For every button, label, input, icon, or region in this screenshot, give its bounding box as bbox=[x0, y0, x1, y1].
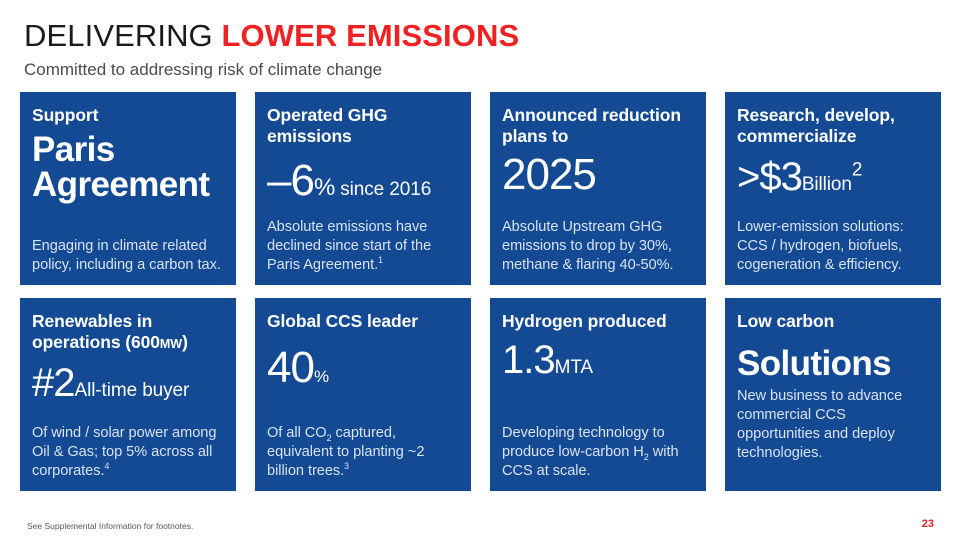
card-value-row: >$3Billion2 bbox=[737, 157, 928, 197]
card-value-suffix: since 2016 bbox=[335, 179, 431, 200]
card-eyebrow: Low carbon bbox=[737, 311, 928, 332]
slide: DELIVERING LOWER EMISSIONS Committed to … bbox=[0, 0, 960, 540]
card-value: 1.3 bbox=[502, 338, 555, 382]
card-body: Of wind / solar power among Oil & Gas; t… bbox=[32, 424, 223, 481]
card-value: #2 bbox=[32, 361, 75, 405]
card-headline: Paris Agreement bbox=[32, 132, 223, 202]
card-value-row: #2All-time buyer bbox=[32, 363, 223, 403]
card-body: Lower-emission solutions: CCS / hydrogen… bbox=[737, 218, 928, 275]
card-unit: % bbox=[314, 174, 335, 201]
card-unit: MTA bbox=[555, 357, 593, 378]
card-value: –6 bbox=[267, 156, 314, 205]
footnote-note: See Supplemental Information for footnot… bbox=[27, 521, 193, 532]
card-value-row: 40% bbox=[267, 346, 458, 390]
card-renewables-in-operations: Renewables in operations (600MW) #2All-t… bbox=[20, 298, 236, 491]
card-operated-ghg-emissions: Operated GHG emissions –6% since 2016 Ab… bbox=[255, 92, 471, 285]
slide-header: DELIVERING LOWER EMISSIONS Committed to … bbox=[24, 18, 924, 80]
page-title: DELIVERING LOWER EMISSIONS bbox=[24, 18, 924, 54]
card-eyebrow: Research, develop, commercialize bbox=[737, 105, 928, 147]
card-eyebrow: Renewables in operations (600MW) bbox=[32, 311, 223, 355]
page-subtitle: Committed to addressing risk of climate … bbox=[24, 59, 924, 80]
card-eyebrow-text: Renewables in operations (600 bbox=[32, 311, 160, 352]
footnote-ref: 4 bbox=[104, 461, 109, 471]
card-unit: All-time buyer bbox=[75, 380, 190, 401]
card-hydrogen-produced: Hydrogen produced 1.3MTA Developing tech… bbox=[490, 298, 706, 491]
card-eyebrow: Global CCS leader bbox=[267, 311, 458, 332]
page-title-accent: LOWER EMISSIONS bbox=[221, 18, 519, 53]
card-body-text: Of wind / solar power among Oil & Gas; t… bbox=[32, 425, 216, 479]
card-eyebrow-text-end: ) bbox=[182, 332, 188, 352]
card-eyebrow: Operated GHG emissions bbox=[267, 105, 458, 147]
card-value-row: 1.3MTA bbox=[502, 340, 693, 380]
card-global-ccs-leader: Global CCS leader 40% Of all CO2 capture… bbox=[255, 298, 471, 491]
card-body-text: Developing technology to produce low-car… bbox=[502, 425, 665, 460]
card-body-text: Absolute emissions have declined since s… bbox=[267, 219, 431, 273]
card-unit: % bbox=[314, 367, 329, 386]
footnote-ref: 1 bbox=[378, 255, 383, 265]
card-body: Absolute Upstream GHG emissions to drop … bbox=[502, 218, 693, 275]
footnote-ref: 3 bbox=[344, 461, 349, 471]
page-title-plain: DELIVERING bbox=[24, 18, 221, 53]
card-support-paris-agreement: Support Paris Agreement Engaging in clim… bbox=[20, 92, 236, 285]
card-eyebrow: Hydrogen produced bbox=[502, 311, 693, 332]
card-value-row: –6% since 2016 bbox=[267, 159, 458, 203]
card-research-develop-commercialize: Research, develop, commercialize >$3Bill… bbox=[725, 92, 941, 285]
page-number: 23 bbox=[922, 518, 934, 530]
card-value: 2025 bbox=[502, 153, 693, 197]
card-body: New business to advance commercial CCS o… bbox=[737, 387, 928, 463]
card-announced-reduction-plans: Announced reduction plans to 2025 Absolu… bbox=[490, 92, 706, 285]
card-body: Developing technology to produce low-car… bbox=[502, 424, 693, 481]
card-unit: Billion bbox=[802, 174, 852, 195]
card-body: Engaging in climate related policy, incl… bbox=[32, 237, 223, 275]
card-value: >$3 bbox=[737, 155, 802, 199]
metric-card-grid: Support Paris Agreement Engaging in clim… bbox=[20, 92, 942, 491]
card-eyebrow: Announced reduction plans to bbox=[502, 105, 693, 147]
card-value: 40 bbox=[267, 343, 314, 392]
card-eyebrow-unit: MW bbox=[160, 337, 182, 351]
card-low-carbon-solutions: Low carbon Solutions New business to adv… bbox=[725, 298, 941, 491]
card-body: Absolute emissions have declined since s… bbox=[267, 218, 458, 275]
footnote-ref: 2 bbox=[852, 160, 862, 181]
card-body-text: Of all CO bbox=[267, 425, 327, 441]
card-body: Of all CO2 captured, equivalent to plant… bbox=[267, 424, 458, 481]
card-eyebrow: Support bbox=[32, 105, 223, 126]
card-headline: Solutions bbox=[737, 346, 928, 381]
